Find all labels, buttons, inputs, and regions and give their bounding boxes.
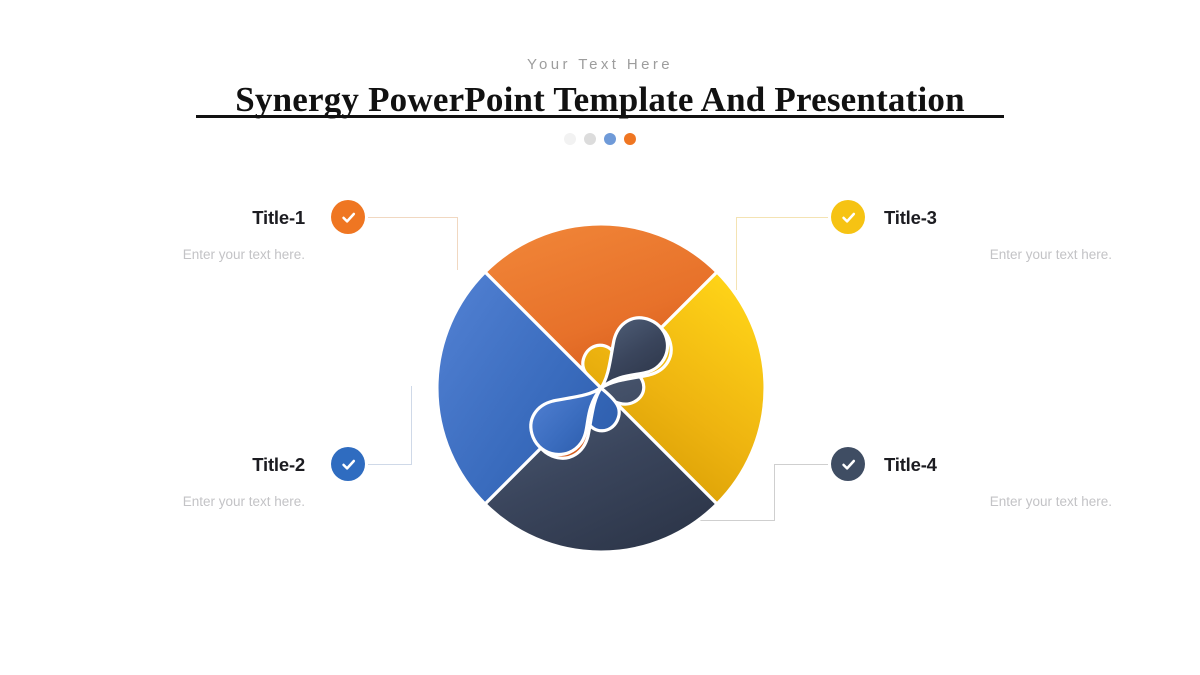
connector-4-vertical: [774, 464, 775, 521]
title-3-check-badge[interactable]: [831, 200, 865, 234]
dot-1: [564, 133, 576, 145]
label-title-1: Title-1 Enter your text here.: [0, 207, 305, 262]
dot-indicators: [0, 133, 1200, 145]
dot-2: [584, 133, 596, 145]
title-2-heading: Title-2: [0, 454, 305, 476]
dot-3: [604, 133, 616, 145]
label-title-3: Title-3 Enter your text here.: [884, 207, 1200, 262]
title-2-body: Enter your text here.: [0, 494, 305, 509]
four-piece-puzzle-circle: [428, 216, 774, 560]
check-circle-icon: [340, 209, 357, 226]
eyebrow-text: Your Text Here: [0, 56, 1200, 73]
check-circle-icon: [840, 456, 857, 473]
connector-2-vertical: [411, 386, 412, 465]
title-1-body: Enter your text here.: [0, 247, 305, 262]
label-title-4: Title-4 Enter your text here.: [884, 454, 1200, 509]
label-title-2: Title-2 Enter your text here.: [0, 454, 305, 509]
title-4-body: Enter your text here.: [884, 494, 1200, 509]
dot-4: [624, 133, 636, 145]
title-4-heading: Title-4: [884, 454, 1200, 476]
check-circle-icon: [840, 209, 857, 226]
connector-2-horizontal: [368, 464, 412, 465]
page-title: Synergy PowerPoint Template And Presenta…: [0, 80, 1200, 120]
title-3-heading: Title-3: [884, 207, 1200, 229]
title-2-check-badge[interactable]: [331, 447, 365, 481]
title-3-body: Enter your text here.: [884, 247, 1200, 262]
title-4-check-badge[interactable]: [831, 447, 865, 481]
connector-4-horizontal: [774, 464, 828, 465]
title-underline: [196, 115, 1004, 118]
title-1-heading: Title-1: [0, 207, 305, 229]
title-1-check-badge[interactable]: [331, 200, 365, 234]
slide-canvas: Your Text Here Synergy PowerPoint Templa…: [0, 0, 1200, 675]
check-circle-icon: [340, 456, 357, 473]
